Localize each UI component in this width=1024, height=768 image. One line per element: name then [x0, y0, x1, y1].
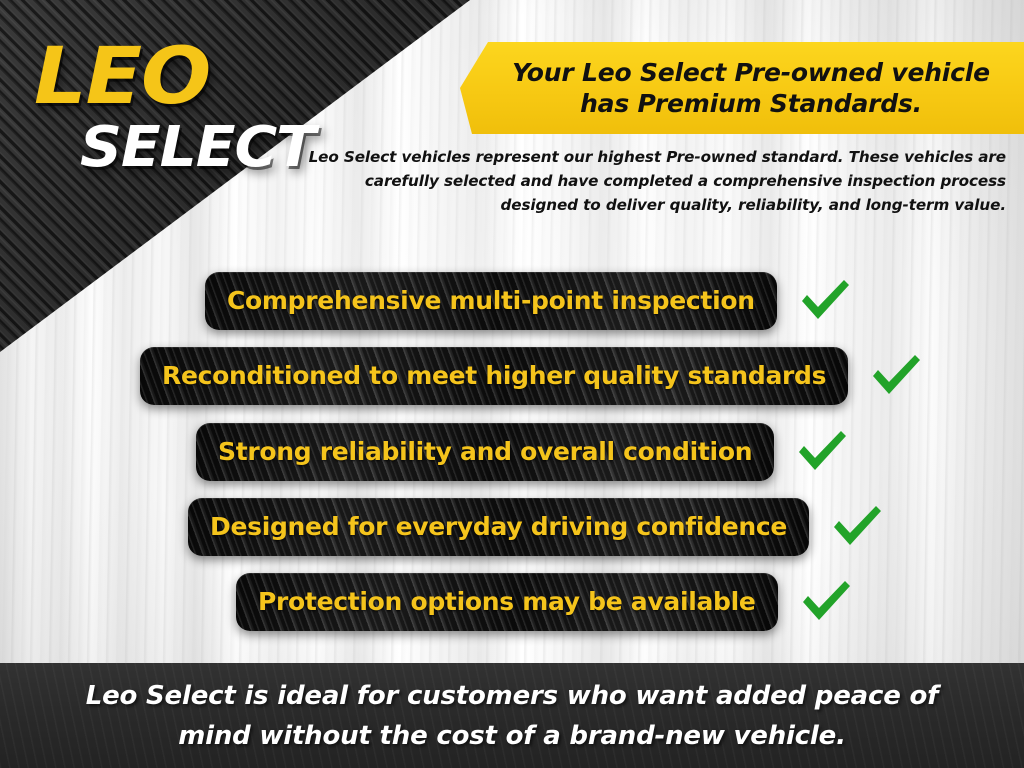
feature-label: Designed for everyday driving confidence	[210, 513, 787, 541]
footer-line-2: mind without the cost of a brand-new veh…	[178, 721, 846, 751]
leo-select-logo: LEO SELECT	[34, 38, 334, 178]
headline-line-1: Your Leo Select Pre-owned vehicle	[512, 58, 990, 87]
feature-pill[interactable]: Comprehensive multi-point inspection	[205, 272, 777, 330]
feature-label: Comprehensive multi-point inspection	[227, 287, 755, 315]
footer-line-1: Leo Select is ideal for customers who wa…	[86, 681, 939, 711]
feature-label: Strong reliability and overall condition	[218, 438, 752, 466]
feature-pill[interactable]: Designed for everyday driving confidence	[188, 498, 809, 556]
feature-pill[interactable]: Protection options may be available	[236, 573, 778, 631]
intro-paragraph: Leo Select vehicles represent our highes…	[300, 145, 1006, 217]
feature-label: Protection options may be available	[258, 588, 756, 616]
feature-label: Reconditioned to meet higher quality sta…	[162, 362, 826, 390]
feature-row: Designed for everyday driving confidence	[188, 498, 883, 556]
headline-banner: Your Leo Select Pre-owned vehicle has Pr…	[460, 42, 1024, 134]
logo-primary-text: LEO	[34, 38, 210, 116]
feature-row: Comprehensive multi-point inspection	[205, 272, 851, 330]
leo-select-promo-slide: LEO SELECT Your Leo Select Pre-owned veh…	[0, 0, 1024, 768]
footer-text: Leo Select is ideal for customers who wa…	[62, 676, 962, 756]
feature-pill[interactable]: Reconditioned to meet higher quality sta…	[140, 347, 848, 405]
green-check-icon	[831, 502, 883, 552]
feature-pill[interactable]: Strong reliability and overall condition	[196, 423, 774, 481]
feature-row: Reconditioned to meet higher quality sta…	[140, 347, 922, 405]
footer-band: Leo Select is ideal for customers who wa…	[0, 663, 1024, 768]
logo-secondary-text: SELECT	[80, 120, 315, 176]
headline-banner-text: Your Leo Select Pre-owned vehicle has Pr…	[491, 57, 1011, 119]
green-check-icon	[796, 427, 848, 477]
feature-row: Strong reliability and overall condition	[196, 423, 848, 481]
green-check-icon	[870, 351, 922, 401]
green-check-icon	[799, 276, 851, 326]
feature-row: Protection options may be available	[236, 573, 852, 631]
headline-line-2: has Premium Standards.	[580, 89, 922, 118]
green-check-icon	[800, 577, 852, 627]
